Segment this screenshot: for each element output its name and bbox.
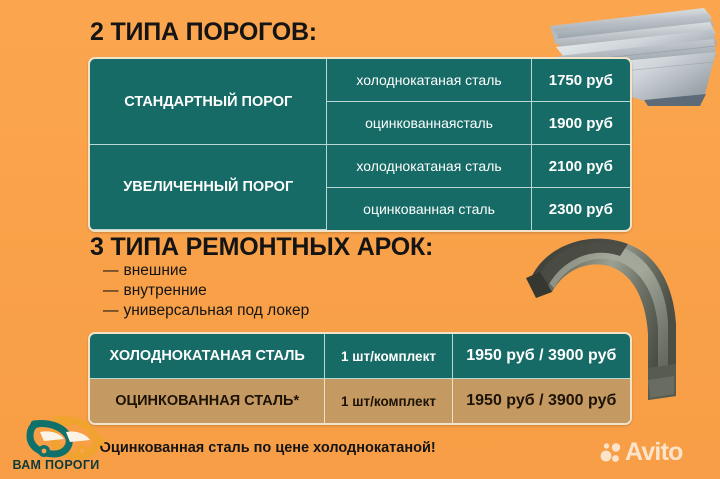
arch-quantity-cell: 1 шт/комплект <box>325 379 452 423</box>
sill-steel-cell: оцинкованная сталь <box>327 188 531 230</box>
promo-poster: 2 ТИПА ПОРОГОВ: СТАНДАРТНЫЙ ПОРОГ холодн… <box>0 0 720 479</box>
sill-type-cell: СТАНДАРТНЫЙ ПОРОГ <box>90 59 327 145</box>
car-icon <box>4 414 108 460</box>
list-item: —универсальная под локер <box>103 301 309 321</box>
footnote-text: *Оцинкованная сталь по цене холоднокатан… <box>94 440 436 456</box>
dash-bullet: — <box>103 262 119 279</box>
avito-label: Avito <box>625 438 683 467</box>
sill-price-cell: 1900 руб <box>532 102 630 145</box>
table-row: ХОЛОДНОКАТАНАЯ СТАЛЬ 1 шт/комплект 1950 … <box>90 334 630 379</box>
sill-price-cell: 1750 руб <box>532 59 630 102</box>
arch-steel-cell: ОЦИНКОВАННАЯ СТАЛЬ* <box>90 379 325 423</box>
brand-logo: ВАМ ПОРОГИ <box>4 414 108 474</box>
sills-section-title: 2 ТИПА ПОРОГОВ: <box>90 18 317 47</box>
list-item-label: внутренние <box>124 282 207 299</box>
table-row: УВЕЛИЧЕННЫЙ ПОРОГ холоднокатаная сталь 2… <box>90 145 630 188</box>
arch-price-cell: 1950 руб / 3900 руб <box>453 334 630 379</box>
arch-types-list: —внешние —внутренние —универсальная под … <box>103 261 309 321</box>
list-item: —внешние <box>103 261 309 281</box>
arch-quantity-cell: 1 шт/комплект <box>325 334 452 379</box>
avito-logo-icon <box>600 442 622 464</box>
dash-bullet: — <box>103 302 119 319</box>
sill-steel-cell: холоднокатаная сталь <box>327 145 531 188</box>
table-row: СТАНДАРТНЫЙ ПОРОГ холоднокатаная сталь 1… <box>90 59 630 102</box>
sill-steel-cell: оцинкованнаясталь <box>327 102 531 145</box>
arch-steel-cell: ХОЛОДНОКАТАНАЯ СТАЛЬ <box>90 334 325 379</box>
avito-watermark: Avito <box>600 438 683 467</box>
sills-price-table: СТАНДАРТНЫЙ ПОРОГ холоднокатаная сталь 1… <box>88 57 632 232</box>
table-row: ОЦИНКОВАННАЯ СТАЛЬ* 1 шт/комплект 1950 р… <box>90 379 630 423</box>
dash-bullet: — <box>103 282 119 299</box>
sill-steel-cell: холоднокатаная сталь <box>327 59 531 102</box>
arch-price-cell: 1950 руб / 3900 руб <box>453 379 630 423</box>
arches-section-title: 3 ТИПА РЕМОНТНЫХ АРОК: <box>90 233 433 262</box>
sill-type-cell: УВЕЛИЧЕННЫЙ ПОРОГ <box>90 145 327 230</box>
list-item: —внутренние <box>103 281 309 301</box>
logo-text: ВАМ ПОРОГИ <box>4 458 108 472</box>
list-item-label: универсальная под локер <box>124 302 310 319</box>
arches-price-table: ХОЛОДНОКАТАНАЯ СТАЛЬ 1 шт/комплект 1950 … <box>88 332 632 425</box>
sill-price-cell: 2100 руб <box>532 145 630 188</box>
sill-price-cell: 2300 руб <box>532 188 630 230</box>
list-item-label: внешние <box>124 262 188 279</box>
